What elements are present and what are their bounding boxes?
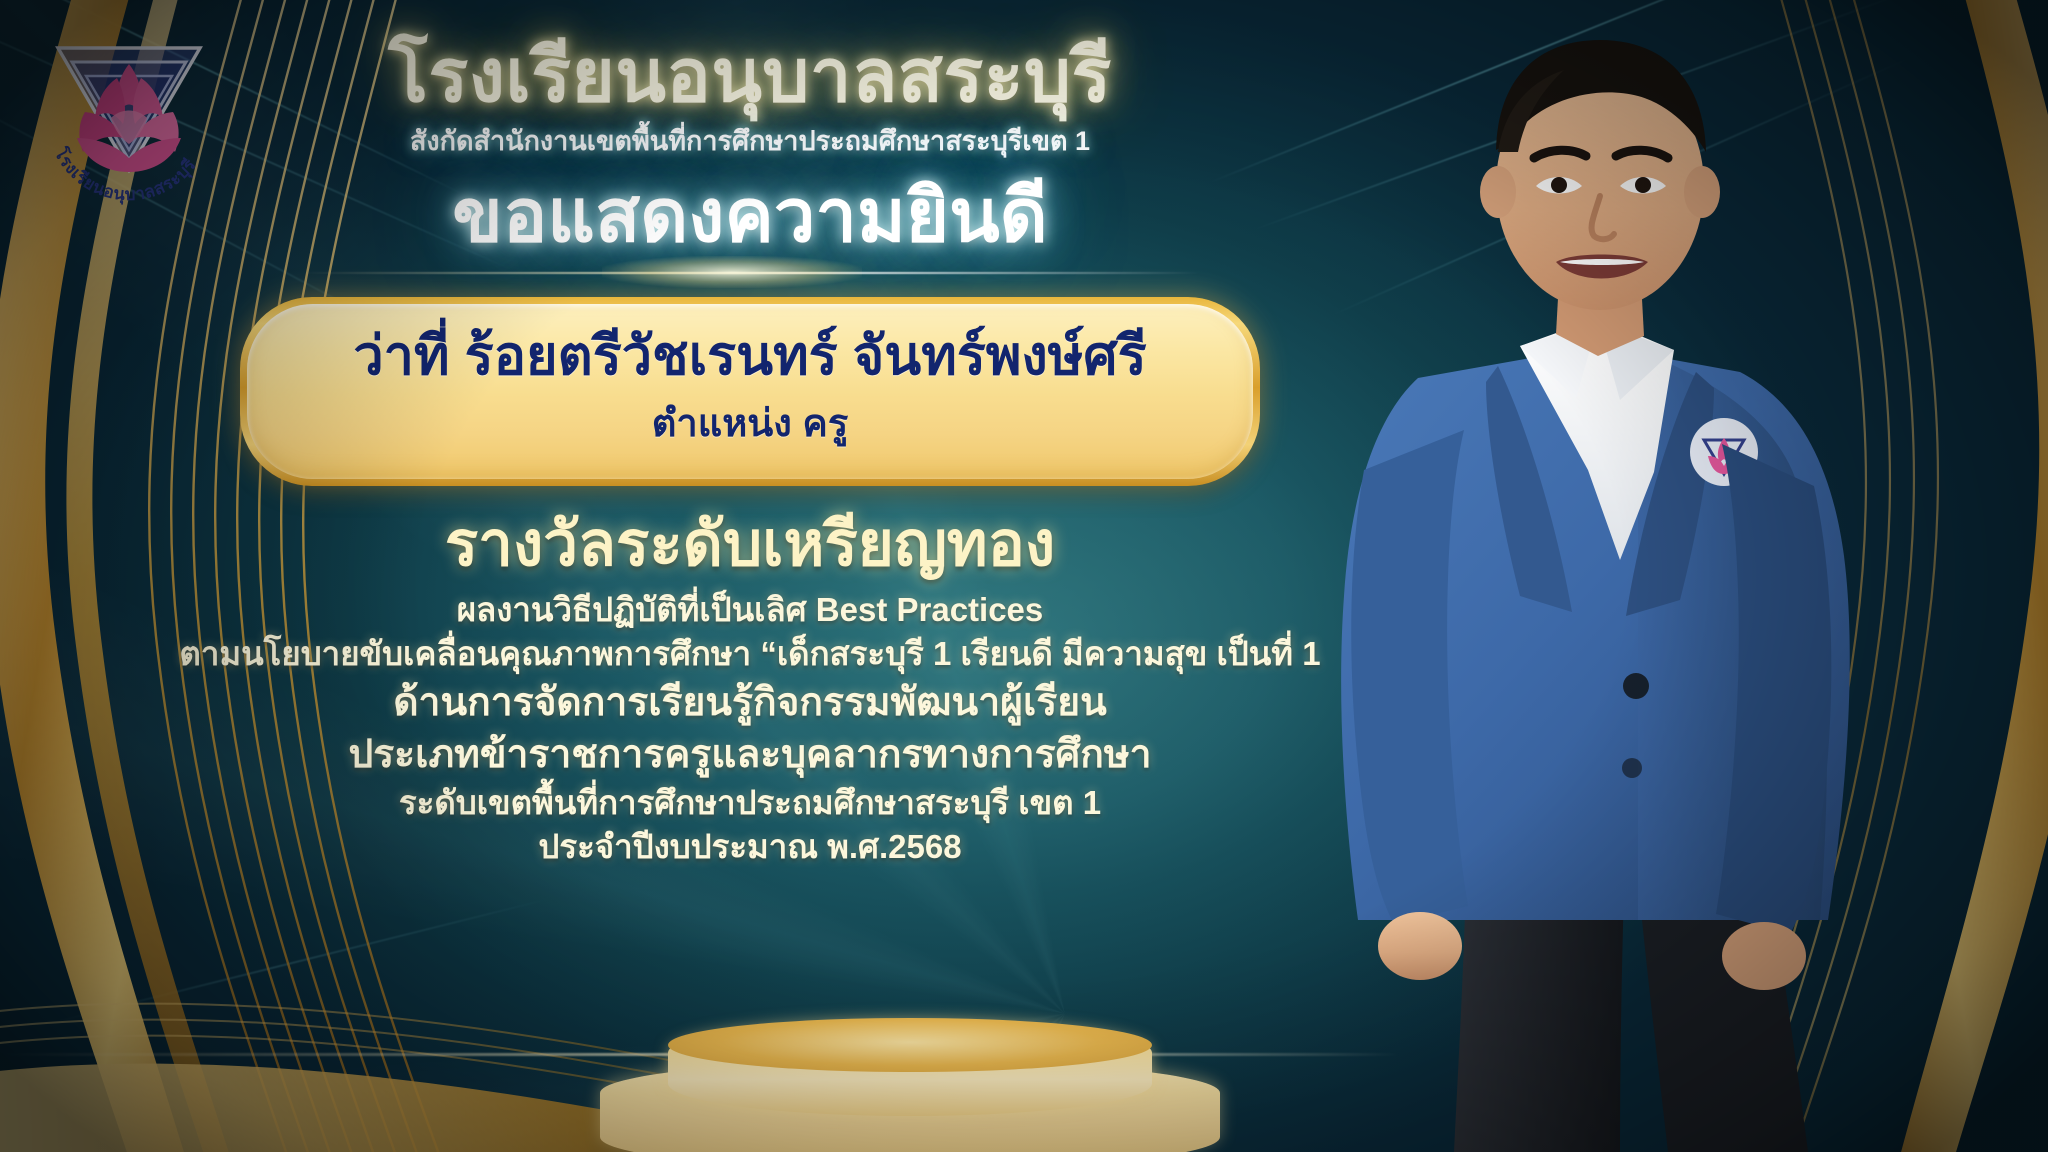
school-name: โรงเรียนอนุบาลสระบุรี bbox=[388, 38, 1111, 113]
banner-content: โรงเรียนอนุบาลสระบุรี สังกัดสำนักงานเขตพ… bbox=[0, 0, 1500, 1152]
honoree-role: ตำแหน่ง ครู bbox=[287, 392, 1213, 453]
award-details: ผลงานวิธีปฏิบัติที่เป็นเลิศ Best Practic… bbox=[179, 589, 1320, 868]
award-title: รางวัลระดับเหรียญทอง bbox=[445, 512, 1055, 577]
congratulations-headline: ขอแสดงความยินดี bbox=[452, 178, 1047, 254]
light-separator bbox=[300, 265, 1200, 281]
award-detail-line: ผลงานวิธีปฏิบัติที่เป็นเลิศ Best Practic… bbox=[457, 589, 1044, 631]
honoree-name: ว่าที่ ร้อยตรีวัชเรนทร์ จันทร์พงษ์ศรี bbox=[287, 326, 1213, 386]
award-detail-line: ประจำปีงบประมาณ พ.ศ.2568 bbox=[538, 826, 961, 868]
honoree-badge: ว่าที่ ร้อยตรีวัชเรนทร์ จันทร์พงษ์ศรี ตำ… bbox=[240, 297, 1260, 486]
school-affiliation: สังกัดสำนักงานเขตพื้นที่การศึกษาประถมศึก… bbox=[410, 119, 1090, 162]
award-detail-line: ตามนโยบายขับเคลื่อนคุณภาพการศึกษา “เด็กส… bbox=[179, 633, 1320, 675]
award-detail-line: ด้านการจัดการเรียนรู้กิจกรรมพัฒนาผู้เรีย… bbox=[393, 678, 1107, 728]
award-detail-line: ระดับเขตพื้นที่การศึกษาประถมศึกษาสระบุรี… bbox=[399, 782, 1101, 824]
award-detail-line: ประเภทข้าราชการครูและบุคลากรทางการศึกษา bbox=[348, 730, 1151, 780]
congratulations-banner: โรงเรียนอนุบาลสระบุรี โรงเรียนอนุบาลสระบ… bbox=[0, 0, 2048, 1152]
